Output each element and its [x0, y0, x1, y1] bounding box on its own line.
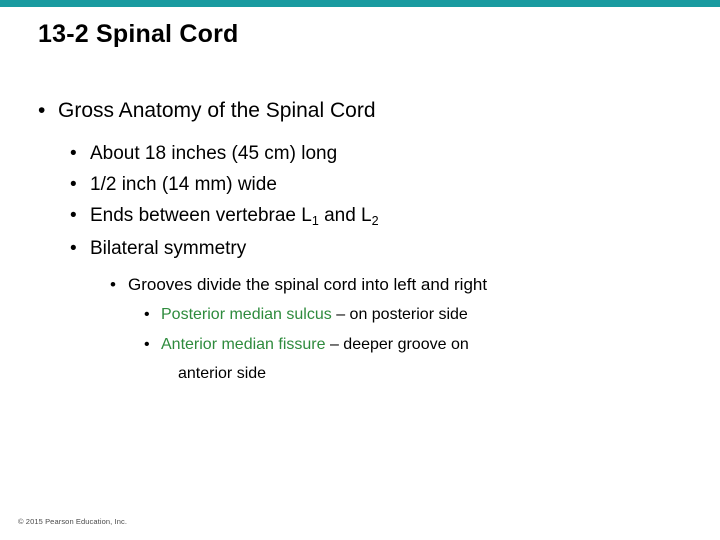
bullet-level1-label: Gross Anatomy of the Spinal Cord	[58, 99, 376, 122]
bullet-level4-item: •Posterior median sulcus – on posterior …	[144, 300, 720, 330]
copyright-footer: © 2015 Pearson Education, Inc.	[18, 517, 127, 526]
slide: 13-2 Spinal Cord •Gross Anatomy of the S…	[0, 0, 720, 540]
bullet-glyph-icon: •	[38, 98, 58, 124]
bullet-level2-item: •About 18 inches (45 cm) long	[70, 138, 720, 169]
bullet-glyph-icon: •	[70, 233, 90, 264]
vertebra-subscript-l2: 2	[372, 214, 379, 228]
bullet-level2-label-part2: and L	[319, 205, 372, 226]
bullet-glyph-icon: •	[70, 169, 90, 200]
term-posterior-median-sulcus: Posterior median sulcus	[161, 306, 332, 323]
bullet-level3-label: Grooves divide the spinal cord into left…	[128, 275, 487, 294]
bullet-level2-label-part1: Ends between vertebrae L	[90, 205, 312, 226]
bullet-level4-continuation: anterior side	[144, 360, 720, 388]
bullet-level2-item: •1/2 inch (14 mm) wide	[70, 169, 720, 200]
bullet-level3-item: •Grooves divide the spinal cord into lef…	[110, 269, 720, 300]
bullet-glyph-icon: •	[110, 269, 128, 300]
bullet-level4-description: – on posterior side	[332, 306, 468, 323]
bullet-glyph-icon: •	[144, 330, 161, 360]
bullet-level2-item: •Bilateral symmetry	[70, 233, 720, 264]
bullet-level2-label: 1/2 inch (14 mm) wide	[90, 174, 277, 195]
slide-accent-bar	[0, 0, 720, 7]
term-anterior-median-fissure: Anterior median fissure	[161, 336, 326, 353]
bullet-level2-label: About 18 inches (45 cm) long	[90, 143, 337, 164]
bullet-glyph-icon: •	[70, 200, 90, 231]
bullet-glyph-icon: •	[70, 138, 90, 169]
page-title: 13-2 Spinal Cord	[38, 20, 238, 49]
bullet-level1: •Gross Anatomy of the Spinal Cord	[38, 98, 720, 124]
bullet-level2-label: Bilateral symmetry	[90, 238, 246, 259]
bullet-level4-description: – deeper groove on	[326, 336, 469, 353]
bullet-level2-item: •Ends between vertebrae L1 and L2	[70, 200, 720, 233]
bullet-glyph-icon: •	[144, 300, 161, 330]
bullet-level4-item: •Anterior median fissure – deeper groove…	[144, 330, 720, 360]
slide-body: •Gross Anatomy of the Spinal Cord •About…	[0, 98, 720, 388]
vertebra-subscript-l1: 1	[312, 214, 319, 228]
